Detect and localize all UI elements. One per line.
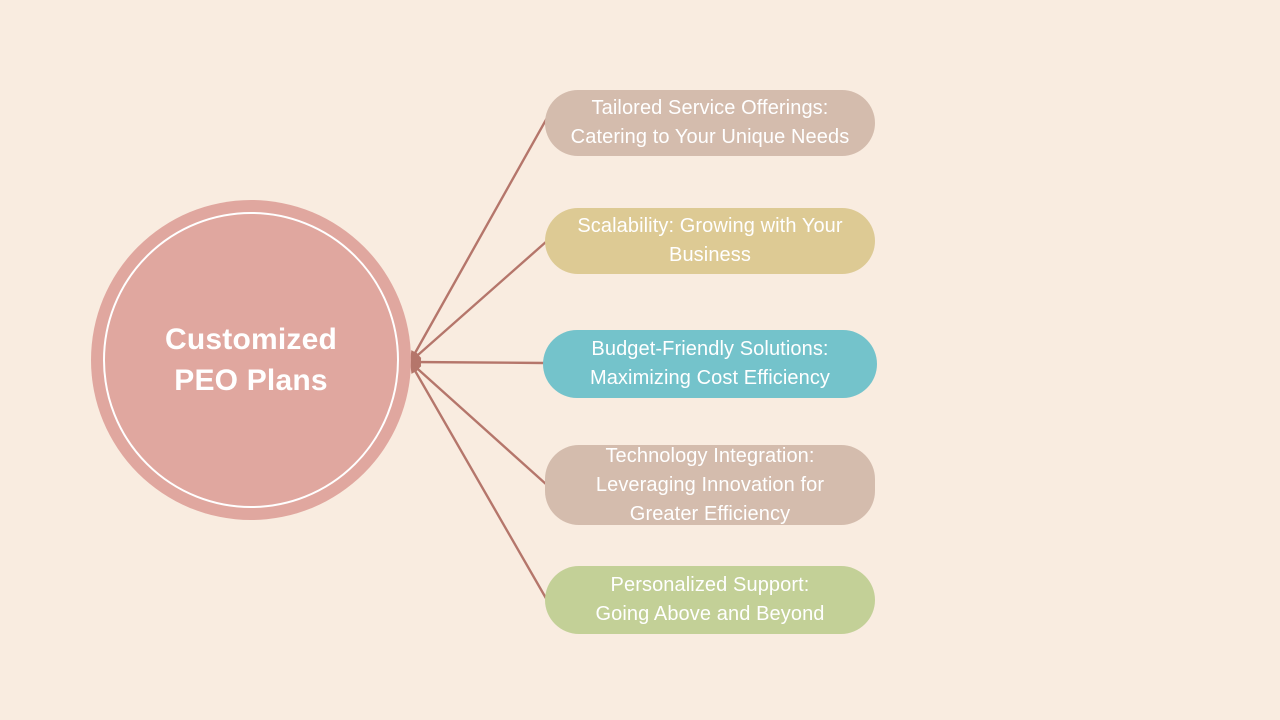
branch-label-line-1: Budget-Friendly Solutions: — [591, 338, 828, 360]
central-node-label: Customized PEO Plans — [126, 319, 376, 402]
branch-label-line-1: Technology Integration: — [605, 445, 814, 467]
branch-node-label: Scalability: Growing with Your Business — [577, 212, 842, 270]
branch-node-label: Tailored Service Offerings: Catering to … — [571, 94, 850, 152]
branch-node-label: Budget-Friendly Solutions: Maximizing Co… — [590, 335, 830, 393]
connector-line-tailored-service-offerings — [410, 118, 547, 362]
branch-node-tailored-service-offerings[interactable]: Tailored Service Offerings: Catering to … — [545, 90, 875, 156]
branch-label-line-1: Personalized Support: — [611, 574, 810, 596]
branch-label-line-2: Catering to Your Unique Needs — [571, 126, 850, 148]
connector-line-scalability — [410, 241, 547, 362]
central-node[interactable]: Customized PEO Plans — [91, 200, 411, 520]
branch-node-label: Personalized Support: Going Above and Be… — [595, 571, 824, 629]
central-node-title-line-2: PEO Plans — [174, 364, 328, 397]
central-node-title-line-1: Customized — [165, 323, 337, 356]
connector-arrowhead-scalability — [410, 351, 421, 362]
connector-arrowhead-budget-friendly-solutions — [410, 357, 421, 366]
connector-line-budget-friendly-solutions — [410, 362, 545, 363]
branch-label-line-2: Going Above and Beyond — [595, 603, 824, 625]
connector-line-technology-integration — [410, 362, 547, 485]
branch-node-personalized-support[interactable]: Personalized Support: Going Above and Be… — [545, 566, 875, 634]
connector-arrowhead-technology-integration — [410, 362, 421, 373]
branch-label-line-1: Tailored Service Offerings: — [592, 97, 829, 119]
connector-arrowhead-tailored-service-offerings — [410, 350, 419, 362]
branch-node-technology-integration[interactable]: Technology Integration: Leveraging Innov… — [545, 445, 875, 525]
branch-label-line-2: Maximizing Cost Efficiency — [590, 367, 830, 389]
branch-label-line-2: Business — [669, 244, 751, 266]
branch-node-label: Technology Integration: Leveraging Innov… — [596, 442, 824, 529]
mindmap-canvas: Customized PEO Plans Tailored Service Of… — [0, 0, 1280, 720]
branch-node-budget-friendly-solutions[interactable]: Budget-Friendly Solutions: Maximizing Co… — [543, 330, 877, 398]
connector-arrowhead-personalized-support — [410, 362, 419, 374]
branch-label-line-2: Leveraging Innovation for — [596, 474, 824, 496]
branch-label-line-1: Scalability: Growing with Your — [577, 215, 842, 237]
branch-node-scalability[interactable]: Scalability: Growing with Your Business — [545, 208, 875, 274]
branch-label-line-3: Greater Efficiency — [630, 503, 790, 525]
connector-line-personalized-support — [410, 362, 547, 600]
